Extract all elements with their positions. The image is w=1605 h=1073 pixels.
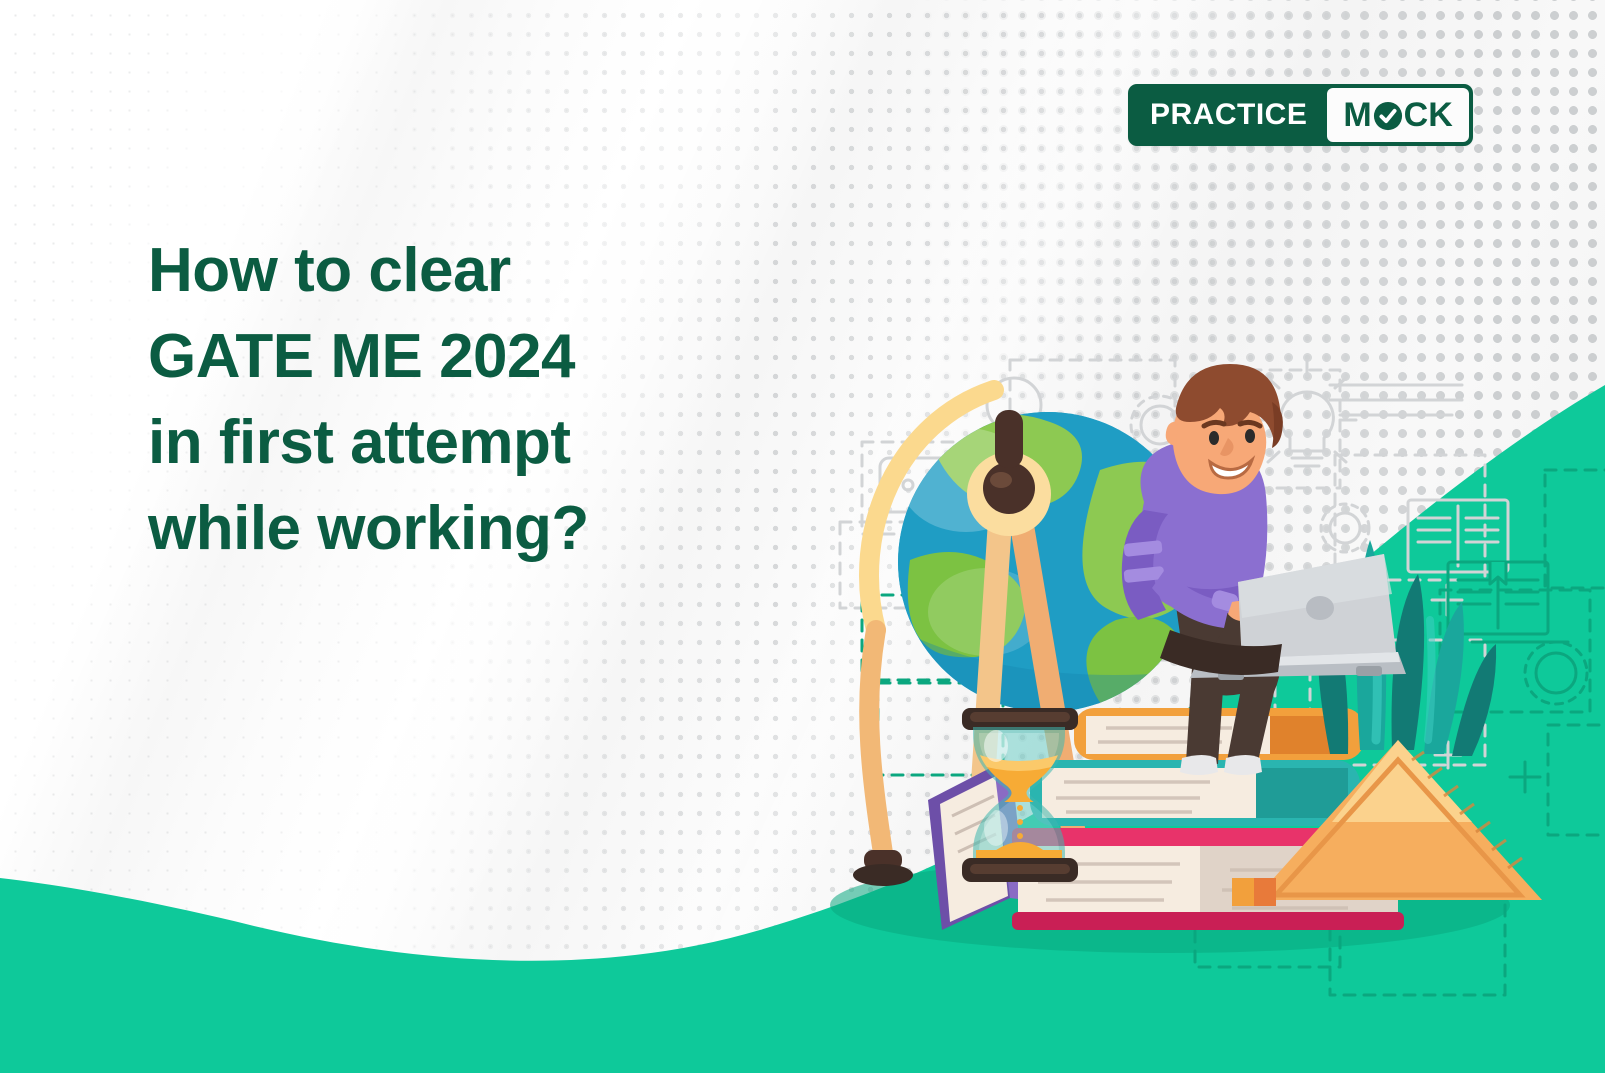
logo-mock-prefix: M xyxy=(1343,96,1371,135)
check-badge-icon xyxy=(1373,101,1403,131)
practicemock-logo[interactable]: PRACTICE M CK xyxy=(1128,84,1473,146)
headline-line-2: GATE ME 2024 xyxy=(148,314,808,400)
headline-line-1: How to clear xyxy=(148,228,808,314)
promo-banner: PRACTICE M CK How to clear GATE ME 2024 … xyxy=(0,0,1605,1073)
logo-mock-plate: M CK xyxy=(1327,88,1468,142)
headline-line-4: while working? xyxy=(148,486,808,572)
student-studying-illustration xyxy=(780,330,1540,970)
headline-line-3: in first attempt xyxy=(148,400,808,486)
logo-practice-text: PRACTICE xyxy=(1128,84,1327,146)
logo-mock-text: M CK xyxy=(1343,96,1452,135)
page-title: How to clear GATE ME 2024 in first attem… xyxy=(148,228,808,572)
logo-mock-suffix: CK xyxy=(1404,96,1453,135)
